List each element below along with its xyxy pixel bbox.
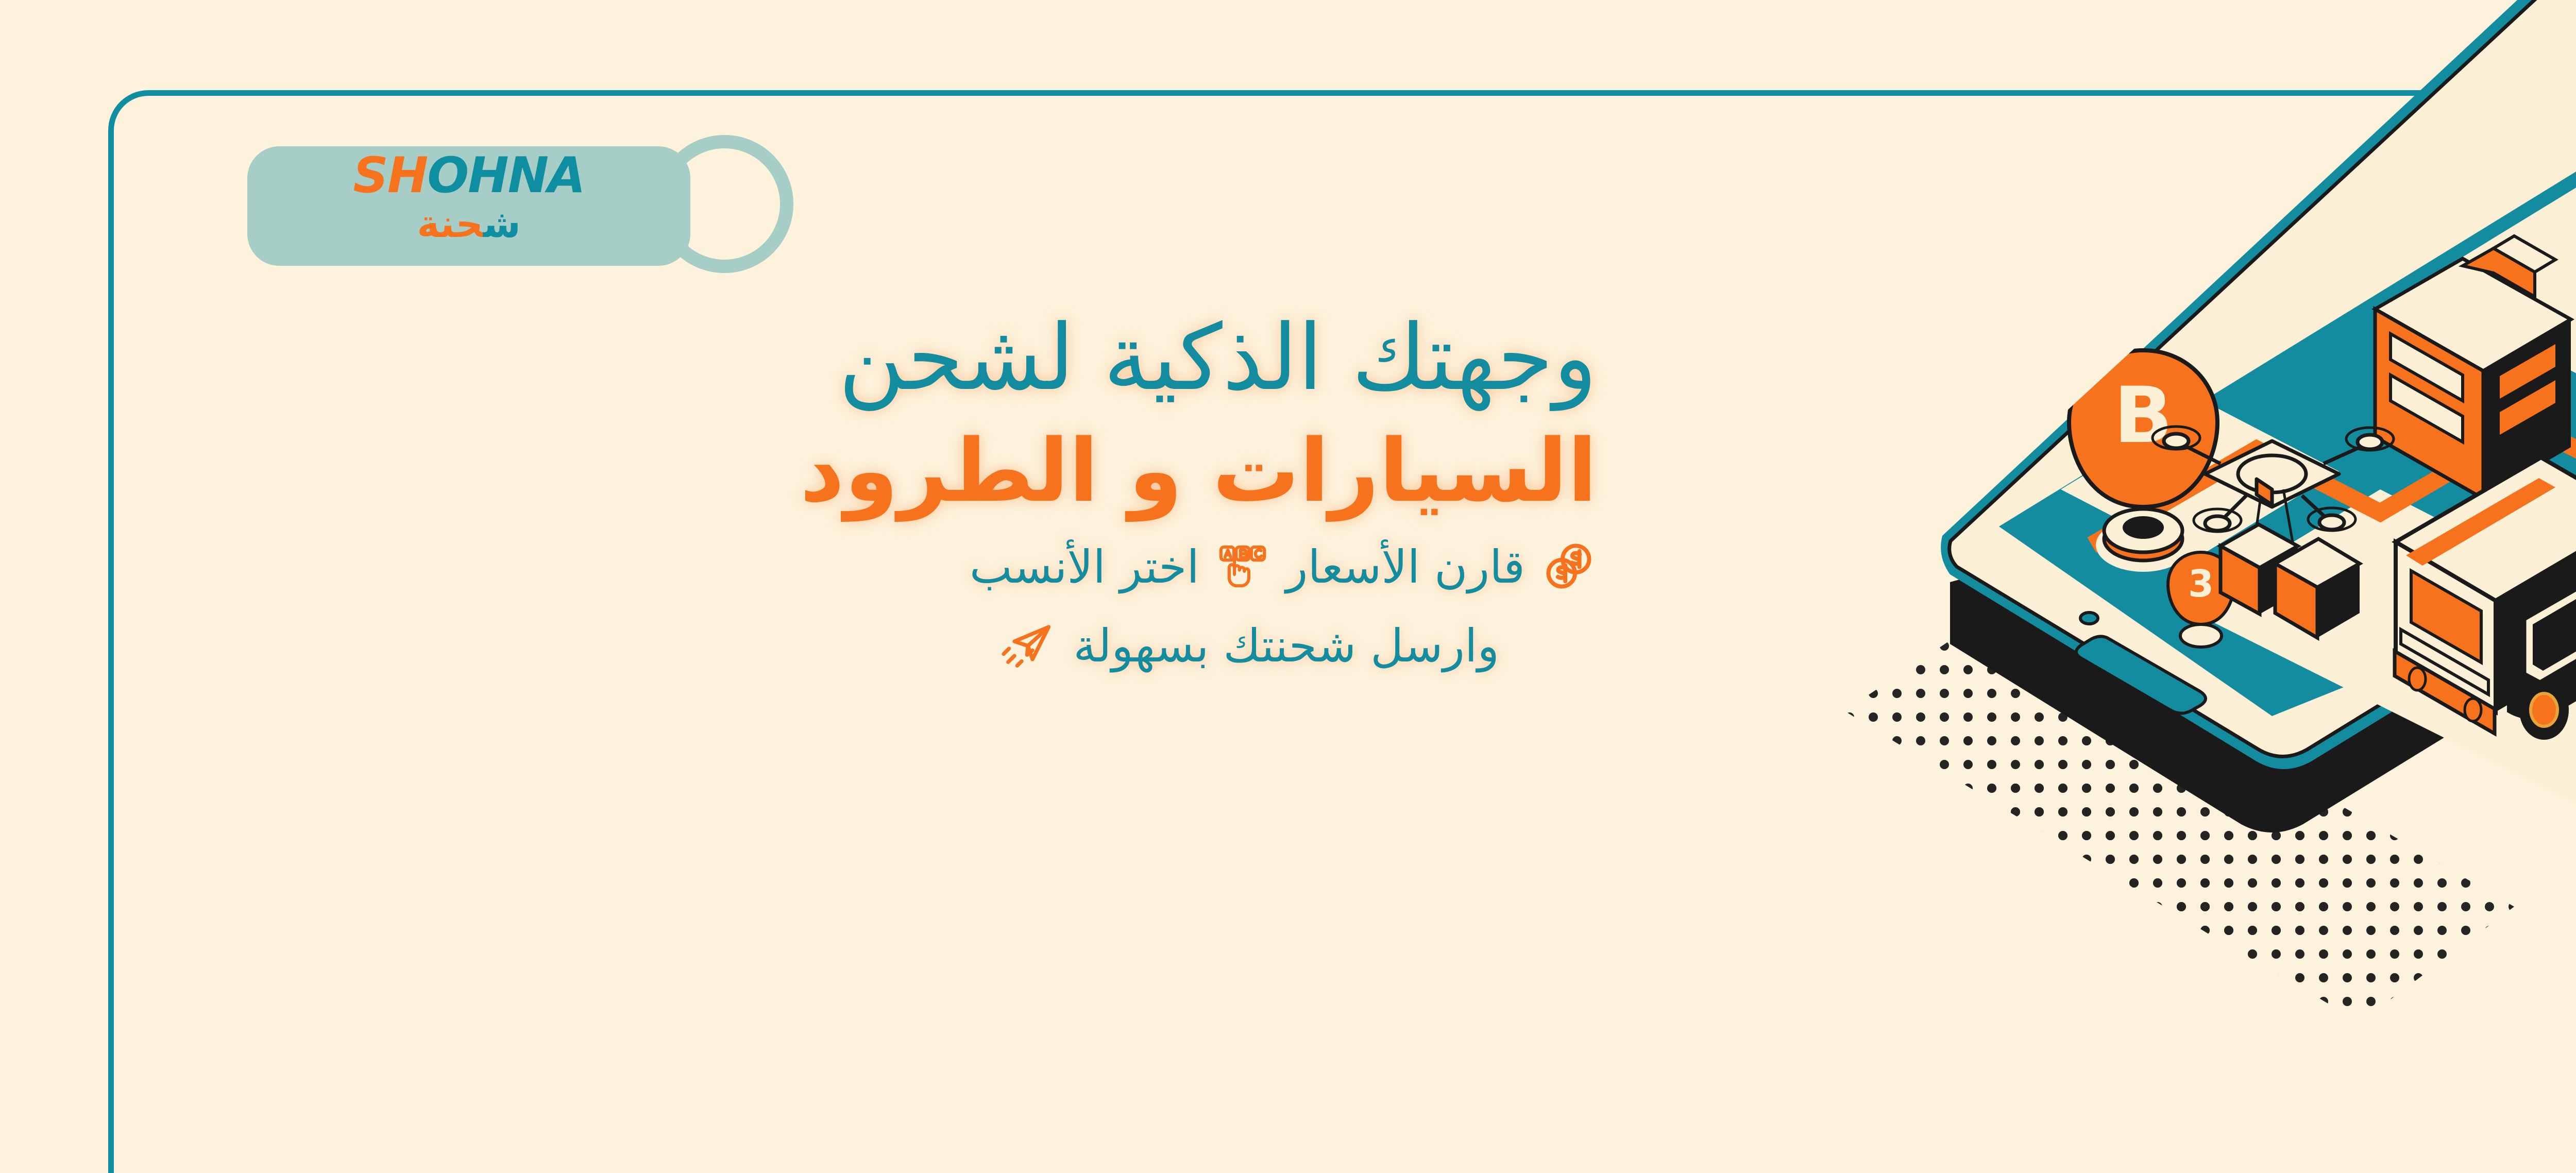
logo-arabic-part1: ش bbox=[483, 202, 521, 246]
headline-block: وجهتك الذكية لشحن السيارات و الطرود قارن… bbox=[185, 309, 1597, 676]
subheadline-text-choose: اختر الأنسب bbox=[970, 541, 1199, 593]
phone-camera-icon bbox=[2080, 613, 2098, 624]
logo-latin-part2: OHNA bbox=[427, 147, 584, 204]
logo-arabic-part2: حنة bbox=[417, 202, 483, 246]
headline-line-1: وجهتك الذكية لشحن bbox=[185, 309, 1597, 407]
headline-line-2: السيارات و الطرود bbox=[185, 424, 1597, 518]
logo-latin-part1: SH bbox=[353, 147, 427, 204]
hand-pick-abc-icon bbox=[1215, 538, 1270, 596]
subheadline-text-compare: قارن الأسعار bbox=[1286, 541, 1525, 593]
paper-plane-send-icon bbox=[1000, 616, 1058, 676]
subheadline-text-send: وارسل شحنتك بسهولة bbox=[1073, 620, 1499, 672]
isometric-phone-delivery-illustration: A B 3 bbox=[1535, 0, 2576, 1173]
logo-arabic-wordmark: شحنة bbox=[247, 205, 690, 243]
brand-logo[interactable]: SHOHNA شحنة bbox=[247, 129, 793, 283]
map-pin-3-label: 3 bbox=[2188, 562, 2214, 605]
subheadline-row-2: وارسل شحنتك بسهولة bbox=[185, 616, 1597, 676]
promo-banner: SHOHNA شحنة وجهتك الذكية لشحن السيارات و… bbox=[0, 0, 2576, 1173]
logo-latin-wordmark: SHOHNA bbox=[247, 151, 690, 200]
subheadline-row-1: قارن الأسعار bbox=[185, 538, 1597, 597]
